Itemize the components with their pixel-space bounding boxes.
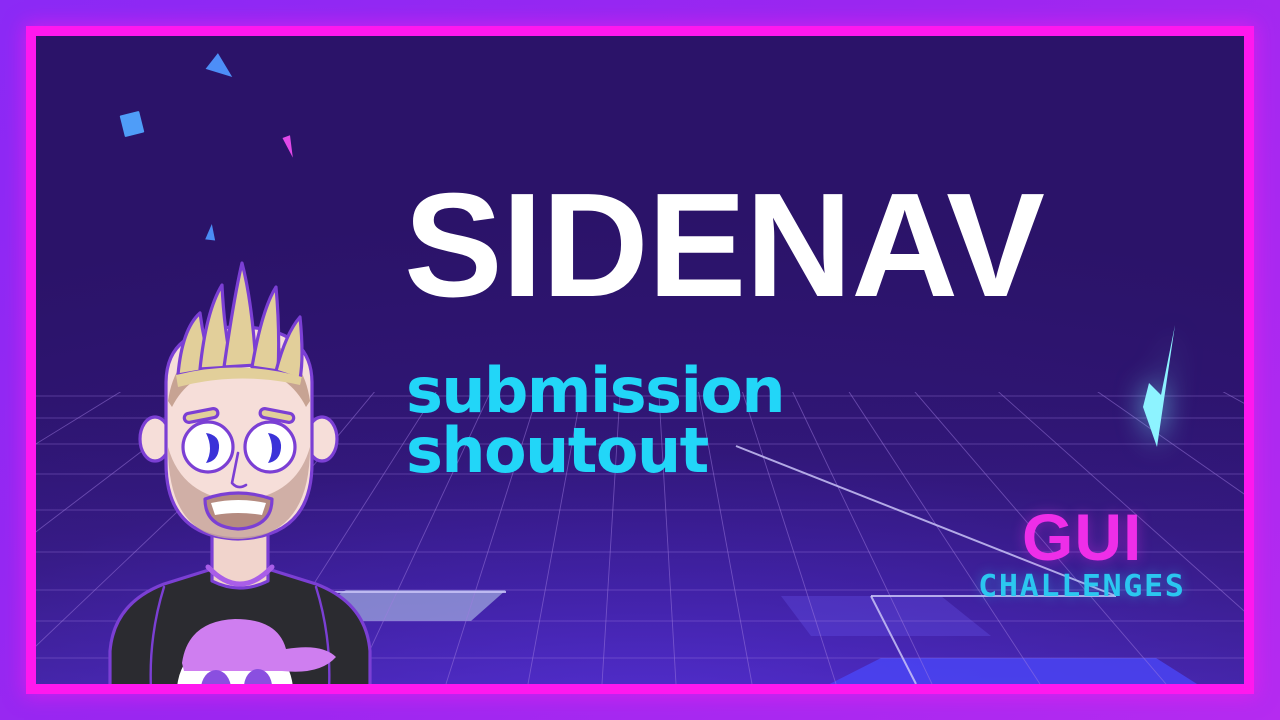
avatar-eye-left — [183, 422, 233, 472]
brand-primary-text: GUI — [984, 505, 1180, 570]
avatar-eye-right — [245, 422, 295, 472]
confetti-triangle-blue-small-icon — [205, 224, 217, 241]
confetti-square-blue-icon — [120, 111, 145, 137]
grid-cell-highlight-center — [781, 596, 991, 636]
brand-lockup: GUI CHALLENGES — [984, 505, 1180, 602]
thumbnail-stage: SIDENAV submission shoutout GUI CHALLENG… — [0, 0, 1280, 720]
host-avatar — [72, 251, 402, 684]
avatar-hair-spike-3 — [224, 263, 256, 367]
grid-cell-highlight-right — [806, 658, 1216, 684]
brand-secondary-text: CHALLENGES — [979, 572, 1186, 602]
page-subtitle: submission shoutout — [406, 361, 784, 480]
cyan-light-shard-icon — [1141, 321, 1187, 451]
confetti-sliver-magenta-icon — [282, 135, 297, 158]
confetti-triangle-blue-icon — [206, 53, 239, 85]
thumbnail-panel: SIDENAV submission shoutout GUI CHALLENG… — [36, 36, 1244, 684]
avatar-teeth — [211, 500, 266, 515]
page-title: SIDENAV — [404, 172, 1044, 320]
shard-body — [1143, 325, 1175, 447]
